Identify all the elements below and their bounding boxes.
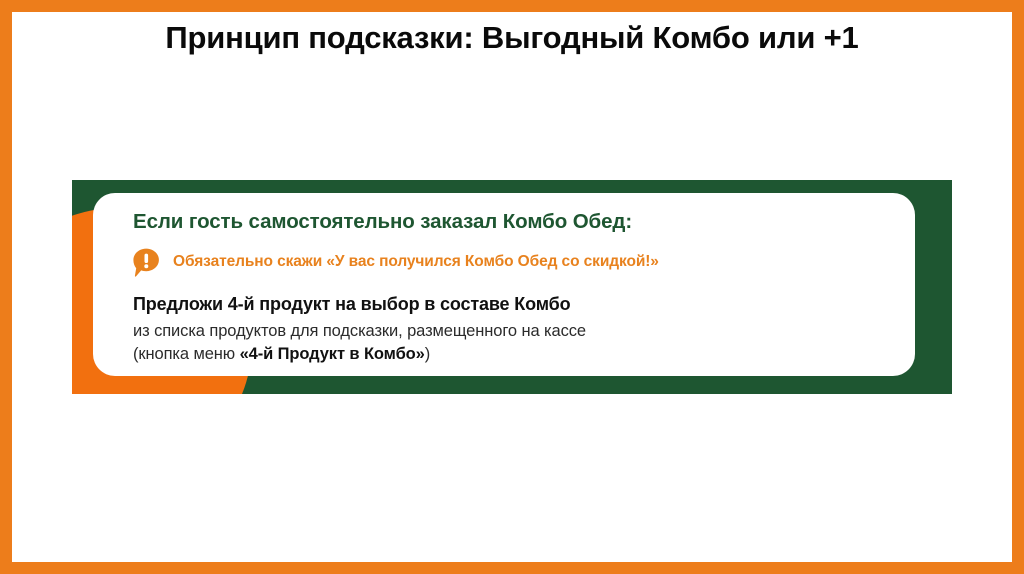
alert-text: Обязательно скажи «У вас получился Комбо…: [173, 253, 659, 271]
offer-heading: Предложи 4-й продукт на выбор в составе …: [133, 294, 889, 315]
card-heading: Если гость самостоятельно заказал Комбо …: [133, 210, 889, 234]
frame-border-top: [0, 0, 1024, 12]
green-banner: Если гость самостоятельно заказал Комбо …: [72, 180, 952, 394]
alert-row: Обязательно скажи «У вас получился Комбо…: [133, 248, 889, 277]
page-title: Принцип подсказки: Выгодный Комбо или +1: [0, 20, 1024, 56]
frame-border-left: [0, 0, 12, 574]
menu-button-name: «4-й Продукт в Комбо»: [240, 345, 425, 363]
offer-detail-line-2: (кнопка меню «4-й Продукт в Комбо»): [133, 345, 889, 364]
info-card: Если гость самостоятельно заказал Комбо …: [93, 193, 915, 376]
slide-root: Принцип подсказки: Выгодный Комбо или +1…: [0, 0, 1024, 574]
offer-detail-line-1: из списка продуктов для подсказки, разме…: [133, 322, 889, 341]
frame-border-bottom: [0, 562, 1024, 574]
frame-border-right: [1012, 0, 1024, 574]
offer-detail-prefix: (кнопка меню: [133, 345, 240, 363]
offer-detail-suffix: ): [425, 345, 430, 363]
exclamation-speech-bubble-icon: [133, 248, 160, 277]
